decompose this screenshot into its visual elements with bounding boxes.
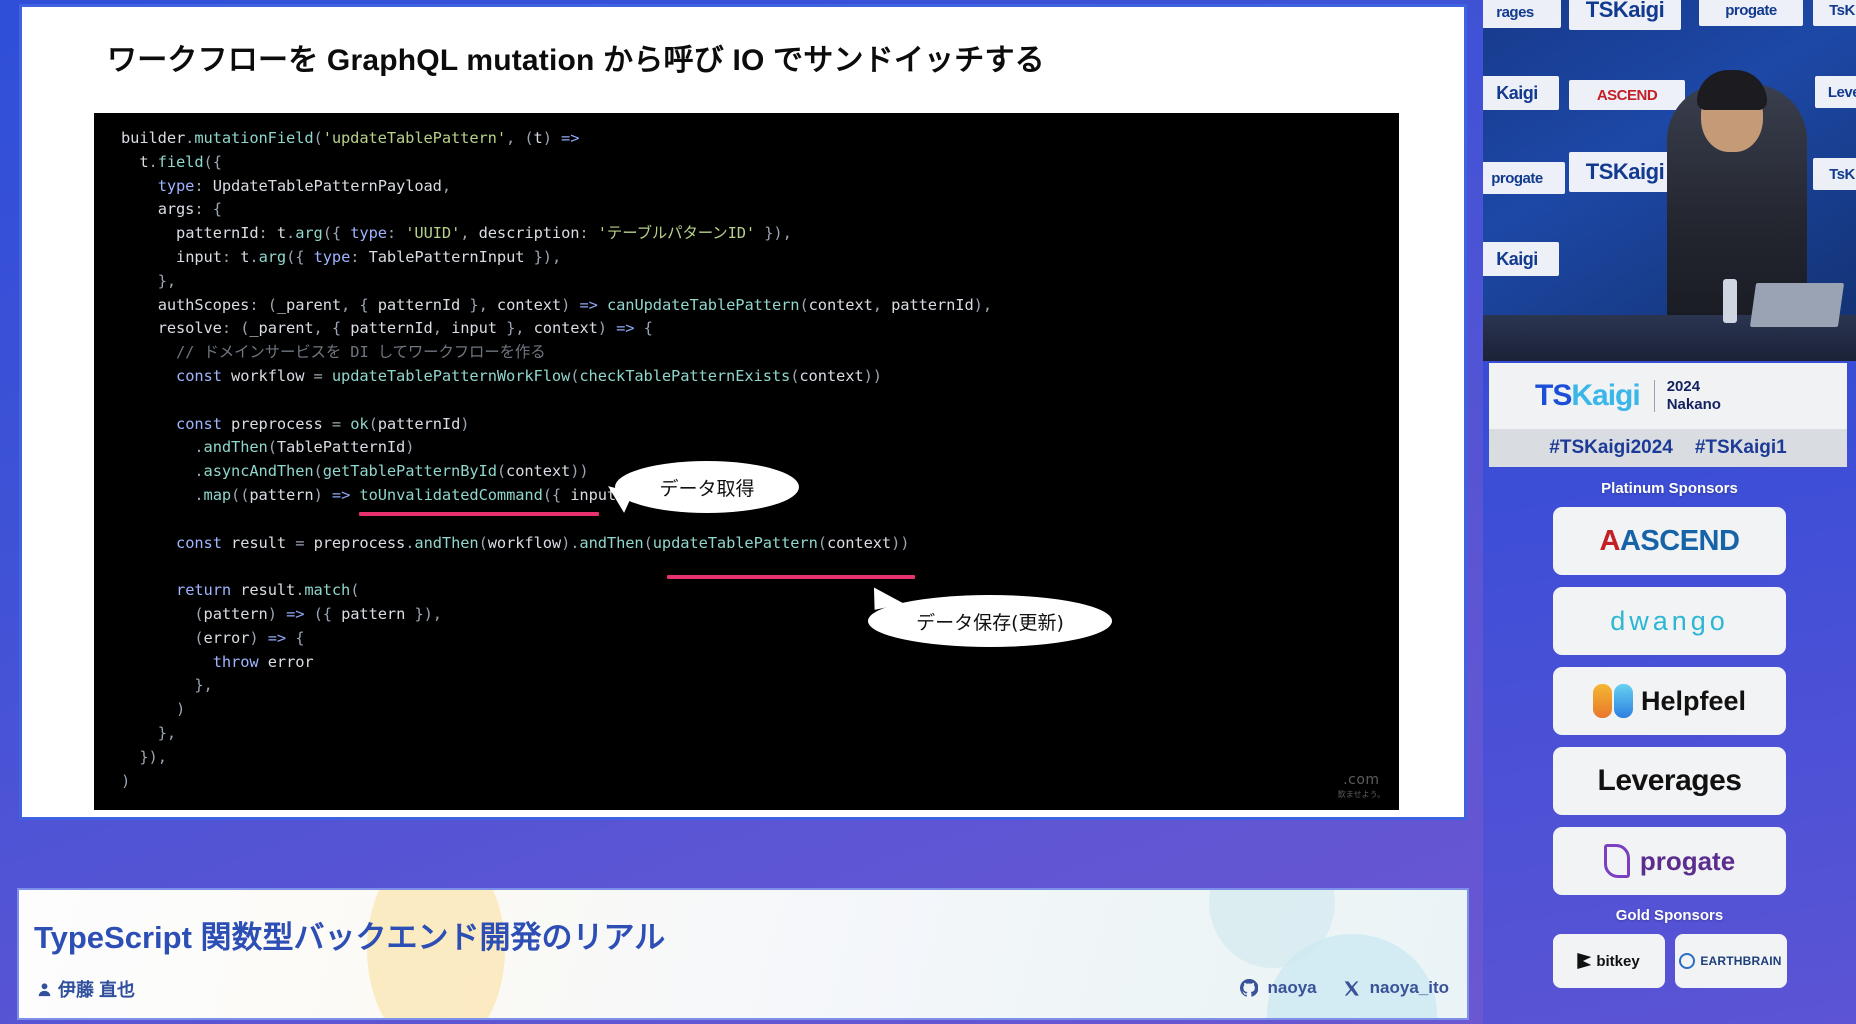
- slide-frame: ワークフローを GraphQL mutation から呼び IO でサンドイッチ…: [19, 4, 1467, 820]
- logo-kaigi: Kaigi: [1571, 379, 1639, 412]
- talk-socials: naoya naoya_ito: [1240, 978, 1450, 998]
- logo-ts: TS: [1535, 379, 1571, 412]
- earthbrain-mark-icon: [1679, 953, 1695, 969]
- progate-mark-icon: [1604, 844, 1630, 878]
- hashtag-event: #TSKaigi2024: [1549, 437, 1673, 459]
- sponsor-card-helpfeel[interactable]: Helpfeel: [1553, 667, 1786, 735]
- backdrop-logo-tile: Kaigi: [1483, 242, 1559, 276]
- callout-fetch-label: データ取得: [659, 474, 754, 501]
- github-handle[interactable]: naoya: [1268, 978, 1317, 998]
- event-year: 2024: [1667, 378, 1721, 396]
- github-icon: [1240, 979, 1258, 997]
- sponsor-logo-ascend: AASCEND: [1600, 525, 1740, 558]
- platinum-heading: Platinum Sponsors: [1483, 480, 1856, 497]
- decoration-blob: [1209, 888, 1335, 968]
- callout-save-label: データ保存(更新): [916, 608, 1064, 635]
- backdrop-logo-tile: TSKaigi: [1569, 0, 1681, 30]
- bitkey-mark-icon: [1577, 953, 1591, 969]
- tskaigi-logo: TSKaigi: [1535, 379, 1640, 413]
- backdrop-logo-tile: rages: [1483, 0, 1561, 28]
- sidebar-rail: rages TSKaigi progate TsK Kaigi ASCEND L…: [1483, 0, 1856, 1024]
- source-code: builder.mutationField('updateTablePatter…: [121, 127, 992, 793]
- slide-stage: ワークフローを GraphQL mutation から呼び IO でサンドイッチ…: [0, 0, 1483, 1024]
- talk-info-bar: TypeScript 関数型バックエンド開発のリアル 伊藤 直也 naoya n…: [17, 888, 1469, 1020]
- sponsor-card-earthbrain[interactable]: EARTHBRAIN: [1675, 934, 1787, 988]
- sponsor-card-bitkey[interactable]: bitkey: [1553, 934, 1665, 988]
- backdrop-logo-tile: TsK: [1813, 158, 1856, 190]
- sponsors-panel: Platinum Sponsors AASCEND dwango Helpfee…: [1483, 472, 1856, 988]
- decoration-blob: [1267, 934, 1437, 1020]
- x-handle[interactable]: naoya_ito: [1370, 978, 1449, 998]
- hashtag-bar: #TSKaigi2024 #TSKaigi1: [1489, 429, 1847, 467]
- talk-title: TypeScript 関数型バックエンド開発のリアル: [34, 912, 665, 957]
- slide-title: ワークフローを GraphQL mutation から呼び IO でサンドイッチ…: [107, 35, 1045, 79]
- backdrop-logo-tile: TSKaigi: [1569, 152, 1681, 192]
- sponsor-name-helpfeel: Helpfeel: [1641, 686, 1746, 717]
- sponsor-card-leverages[interactable]: Leverages: [1553, 747, 1786, 815]
- sponsor-name-earthbrain: EARTHBRAIN: [1700, 954, 1781, 968]
- event-place: Nakano: [1667, 396, 1721, 414]
- backdrop-logo-tile: progate: [1699, 0, 1803, 26]
- callout-tail: [870, 582, 904, 610]
- sponsor-name-leverages: Leverages: [1598, 764, 1742, 798]
- backdrop-logo-tile: Kaigi: [1483, 76, 1559, 110]
- callout-fetch: データ取得: [615, 461, 799, 513]
- callout-save: データ保存(更新): [868, 595, 1112, 647]
- backdrop-logo-tile: ASCEND: [1569, 80, 1685, 110]
- water-bottle: [1723, 279, 1737, 323]
- highlight-underline-fetch: [359, 512, 599, 516]
- gold-heading: Gold Sponsors: [1483, 907, 1856, 924]
- event-edition: 2024 Nakano: [1667, 378, 1721, 414]
- sponsor-card-progate[interactable]: progate: [1553, 827, 1786, 895]
- gold-sponsor-row: bitkey EARTHBRAIN: [1483, 934, 1856, 988]
- person-icon: [37, 982, 52, 997]
- sponsor-card-dwango[interactable]: dwango: [1553, 587, 1786, 655]
- watermark: .com 飲ませよう。: [1338, 772, 1385, 800]
- x-icon: [1343, 980, 1360, 997]
- sponsor-card-ascend[interactable]: AASCEND: [1553, 507, 1786, 575]
- sponsor-name-ascend: ASCEND: [1604, 525, 1739, 558]
- helpfeel-mark-icon: [1593, 684, 1633, 718]
- sponsor-logo-helpfeel: Helpfeel: [1593, 684, 1746, 718]
- highlight-underline-save: [667, 575, 915, 579]
- backdrop-logo-tile: TsK: [1813, 0, 1856, 26]
- watermark-bottom: 飲ませよう。: [1338, 789, 1385, 800]
- backdrop-logo-tile: progate: [1483, 162, 1565, 194]
- talk-speaker: 伊藤 直也: [37, 976, 135, 1002]
- sponsor-name-dwango: dwango: [1610, 606, 1729, 637]
- sponsor-name-bitkey: bitkey: [1596, 953, 1639, 970]
- speaker-camera-feed: rages TSKaigi progate TsK Kaigi ASCEND L…: [1483, 0, 1856, 361]
- talk-speaker-name: 伊藤 直也: [58, 976, 135, 1002]
- screen: ワークフローを GraphQL mutation から呼び IO でサンドイッチ…: [0, 0, 1856, 1024]
- laptop: [1750, 283, 1844, 327]
- sponsor-name-progate: progate: [1640, 846, 1735, 877]
- watermark-top: .com: [1338, 772, 1385, 788]
- event-brand-bar: TSKaigi 2024 Nakano: [1489, 363, 1847, 429]
- backdrop-logo-tile: Leve: [1815, 76, 1856, 108]
- sponsor-logo-progate: progate: [1604, 844, 1735, 878]
- divider: [1654, 380, 1655, 412]
- code-block: builder.mutationField('updateTablePatter…: [94, 113, 1399, 810]
- hashtag-track: #TSKaigi1: [1695, 437, 1787, 459]
